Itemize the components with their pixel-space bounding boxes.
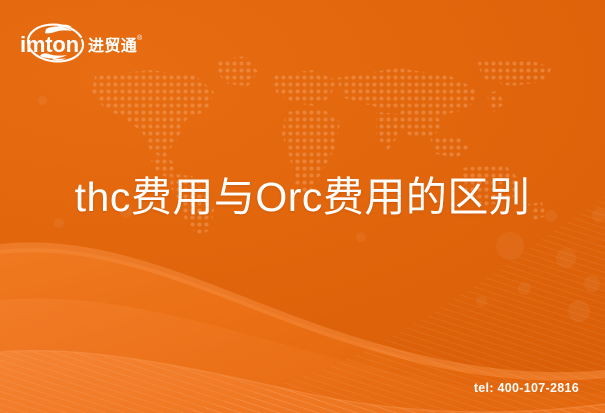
logo-chinese-name: 进贸通 [88,36,137,55]
page-title: thc费用与Orc费用的区别 [0,169,605,225]
slide-canvas: imton 进贸通 ® thc费用与Orc费用的区别 tel: 400-107-… [0,0,605,413]
contact-telephone: tel: 400-107-2816 [474,381,579,395]
brand-logo[interactable]: imton 进贸通 ® [16,18,146,68]
logo-wordmark: imton [20,32,79,57]
globe-swoosh-logo: imton 进贸通 ® [16,18,144,68]
registered-trademark-icon: ® [137,34,143,42]
